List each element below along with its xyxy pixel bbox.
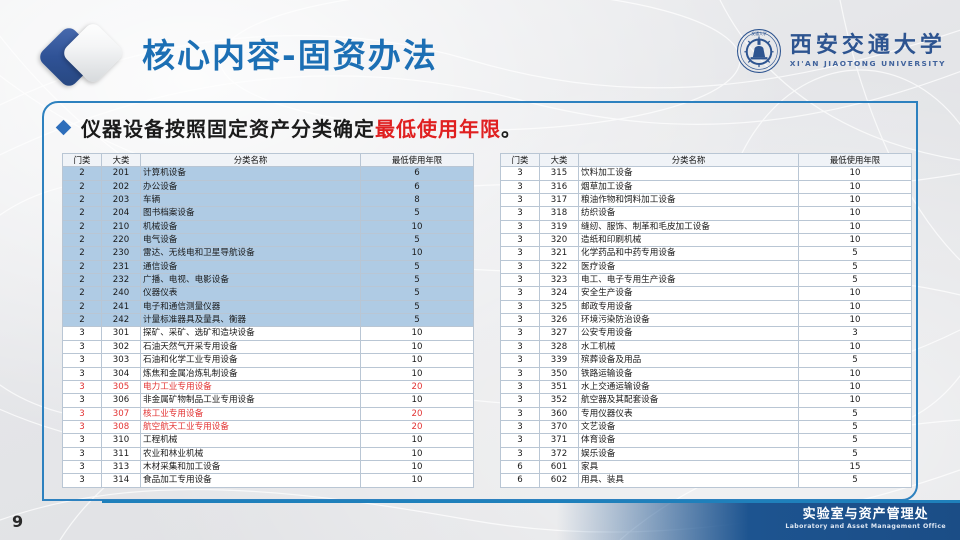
table-row: 3371体育设备5 [501, 434, 912, 447]
cell-name: 公安专用设备 [579, 327, 799, 340]
cell-name: 计算机设备 [141, 167, 361, 180]
cell-years: 5 [799, 260, 912, 273]
table-row: 3323电工、电子专用生产设备5 [501, 274, 912, 287]
university-logo: 交通大学 西安交通大学 XI'AN JIAOTONG UNIVERSITY [736, 28, 946, 74]
cell-category: 3 [501, 394, 540, 407]
cell-years: 10 [799, 207, 912, 220]
cell-category: 3 [63, 354, 102, 367]
cell-years: 10 [361, 247, 474, 260]
cell-name: 工程机械 [141, 434, 361, 447]
cell-name: 邮政专用设备 [579, 300, 799, 313]
cell-major: 351 [540, 380, 579, 393]
cell-major: 339 [540, 354, 579, 367]
cell-category: 3 [501, 167, 540, 180]
cell-major: 202 [102, 180, 141, 193]
cell-years: 20 [361, 407, 474, 420]
table-header-row: 门类 大类 分类名称 最低使用年限 [63, 154, 474, 167]
cell-years: 6 [361, 180, 474, 193]
cell-name: 车辆 [141, 194, 361, 207]
cell-name: 电子和通信测量仪器 [141, 300, 361, 313]
cell-category: 3 [63, 434, 102, 447]
cell-years: 10 [799, 314, 912, 327]
cell-category: 3 [501, 380, 540, 393]
cell-years: 10 [799, 234, 912, 247]
cell-name: 图书档案设备 [141, 207, 361, 220]
cell-category: 2 [63, 234, 102, 247]
table-row: 2231通信设备5 [63, 260, 474, 273]
cell-years: 3 [799, 327, 912, 340]
right-table-body: 3315饮料加工设备103316烟草加工设备103317粮油作物和饲料加工设备1… [501, 167, 912, 487]
cell-years: 5 [799, 474, 912, 487]
classification-table-left: 门类 大类 分类名称 最低使用年限 2201计算机设备62202办公设备6220… [62, 153, 474, 488]
table-row: 3307核工业专用设备20 [63, 407, 474, 420]
cell-years: 5 [361, 300, 474, 313]
cell-major: 324 [540, 287, 579, 300]
cell-name: 缝纫、服饰、制革和毛皮加工设备 [579, 220, 799, 233]
footer-department: 实验室与资产管理处 Laboratory and Asset Managemen… [785, 508, 946, 530]
left-table-wrapper: 门类 大类 分类名称 最低使用年限 2201计算机设备62202办公设备6220… [62, 153, 474, 488]
cell-years: 5 [361, 260, 474, 273]
table-header-row: 门类 大类 分类名称 最低使用年限 [501, 154, 912, 167]
cell-name: 炼焦和金属冶炼轧制设备 [141, 367, 361, 380]
cell-name: 木材采集和加工设备 [141, 460, 361, 473]
svg-text:交通大学: 交通大学 [751, 31, 766, 36]
bullet-text-highlight: 最低使用年限 [375, 117, 501, 141]
slide-header: 核心内容-固资办法 交通大学 [0, 0, 960, 96]
bullet-diamond-icon [56, 120, 72, 136]
table-row: 2230雷达、无线电和卫星导航设备10 [63, 247, 474, 260]
cell-name: 电力工业专用设备 [141, 380, 361, 393]
cell-category: 6 [501, 460, 540, 473]
university-name-cn: 西安交通大学 [790, 34, 946, 56]
cell-years: 5 [361, 287, 474, 300]
cell-name: 纺织设备 [579, 207, 799, 220]
cell-name: 探矿、采矿、选矿和造块设备 [141, 327, 361, 340]
cell-major: 316 [540, 180, 579, 193]
cell-name: 计量标准器具及量具、衡器 [141, 314, 361, 327]
table-row: 3328水工机械10 [501, 340, 912, 353]
cell-major: 307 [102, 407, 141, 420]
cell-category: 3 [501, 354, 540, 367]
table-row: 3350铁路运输设备10 [501, 367, 912, 380]
table-row: 3319缝纫、服饰、制革和毛皮加工设备10 [501, 220, 912, 233]
cell-category: 3 [501, 327, 540, 340]
table-row: 3302石油天然气开采专用设备10 [63, 340, 474, 353]
cell-major: 232 [102, 274, 141, 287]
table-row: 2232广播、电视、电影设备5 [63, 274, 474, 287]
cell-category: 3 [501, 407, 540, 420]
cell-years: 5 [799, 274, 912, 287]
cell-major: 602 [540, 474, 579, 487]
cell-category: 3 [501, 300, 540, 313]
cell-major: 327 [540, 327, 579, 340]
cell-name: 环境污染防治设备 [579, 314, 799, 327]
cell-name: 医疗设备 [579, 260, 799, 273]
table-row: 3308航空航天工业专用设备20 [63, 420, 474, 433]
cell-major: 322 [540, 260, 579, 273]
cell-major: 372 [540, 447, 579, 460]
cell-category: 2 [63, 274, 102, 287]
col-header-name: 分类名称 [141, 154, 361, 167]
cell-name: 烟草加工设备 [579, 180, 799, 193]
cell-name: 雷达、无线电和卫星导航设备 [141, 247, 361, 260]
cell-category: 3 [501, 194, 540, 207]
cell-major: 318 [540, 207, 579, 220]
right-table-wrapper: 门类 大类 分类名称 最低使用年限 3315饮料加工设备103316烟草加工设备… [500, 153, 912, 488]
decorative-diamond-logo [44, 26, 142, 92]
cell-category: 3 [63, 394, 102, 407]
cell-category: 3 [501, 207, 540, 220]
cell-name: 家具 [579, 460, 799, 473]
cell-major: 305 [102, 380, 141, 393]
cell-name: 用具、装具 [579, 474, 799, 487]
cell-major: 321 [540, 247, 579, 260]
cell-years: 10 [799, 167, 912, 180]
table-row: 3325邮政专用设备10 [501, 300, 912, 313]
cell-name: 航空航天工业专用设备 [141, 420, 361, 433]
cell-category: 6 [501, 474, 540, 487]
cell-name: 粮油作物和饲料加工设备 [579, 194, 799, 207]
cell-major: 301 [102, 327, 141, 340]
cell-category: 3 [501, 220, 540, 233]
cell-name: 石油和化学工业专用设备 [141, 354, 361, 367]
table-row: 3313木材采集和加工设备10 [63, 460, 474, 473]
cell-category: 3 [63, 474, 102, 487]
cell-years: 10 [799, 340, 912, 353]
cell-name: 广播、电视、电影设备 [141, 274, 361, 287]
cell-name: 铁路运输设备 [579, 367, 799, 380]
cell-category: 3 [63, 420, 102, 433]
cell-name: 化学药品和中药专用设备 [579, 247, 799, 260]
cell-category: 2 [63, 167, 102, 180]
table-row: 3311农业和林业机械10 [63, 447, 474, 460]
cell-major: 203 [102, 194, 141, 207]
table-row: 3324安全生产设备10 [501, 287, 912, 300]
table-row: 3303石油和化学工业专用设备10 [63, 354, 474, 367]
classification-tables: 门类 大类 分类名称 最低使用年限 2201计算机设备62202办公设备6220… [62, 153, 902, 488]
cell-major: 326 [540, 314, 579, 327]
table-row: 3326环境污染防治设备10 [501, 314, 912, 327]
cell-category: 2 [63, 287, 102, 300]
table-row: 3318纺织设备10 [501, 207, 912, 220]
table-row: 3339殡葬设备及用品5 [501, 354, 912, 367]
table-row: 2204图书档案设备5 [63, 207, 474, 220]
cell-major: 360 [540, 407, 579, 420]
cell-name: 农业和林业机械 [141, 447, 361, 460]
cell-name: 造纸和印刷机械 [579, 234, 799, 247]
cell-category: 3 [501, 247, 540, 260]
table-row: 3351水上交通运输设备10 [501, 380, 912, 393]
cell-years: 10 [361, 367, 474, 380]
bullet-text-suffix: 。 [501, 117, 522, 141]
cell-category: 3 [501, 314, 540, 327]
cell-major: 311 [102, 447, 141, 460]
cell-name: 安全生产设备 [579, 287, 799, 300]
table-row: 3322医疗设备5 [501, 260, 912, 273]
cell-name: 电气设备 [141, 234, 361, 247]
cell-major: 315 [540, 167, 579, 180]
table-row: 3372娱乐设备5 [501, 447, 912, 460]
table-row: 3370文艺设备5 [501, 420, 912, 433]
cell-years: 10 [799, 300, 912, 313]
cell-major: 371 [540, 434, 579, 447]
cell-years: 10 [799, 394, 912, 407]
bullet-text: 仪器设备按照固定资产分类确定最低使用年限。 [81, 113, 522, 142]
cell-category: 2 [63, 220, 102, 233]
cell-name: 电工、电子专用生产设备 [579, 274, 799, 287]
cell-years: 5 [361, 314, 474, 327]
cell-major: 220 [102, 234, 141, 247]
table-row: 3314食品加工专用设备10 [63, 474, 474, 487]
cell-years: 5 [799, 247, 912, 260]
cell-category: 3 [63, 380, 102, 393]
cell-major: 325 [540, 300, 579, 313]
cell-major: 303 [102, 354, 141, 367]
cell-years: 5 [361, 207, 474, 220]
cell-category: 3 [501, 367, 540, 380]
cell-category: 2 [63, 314, 102, 327]
col-header-category: 门类 [63, 154, 102, 167]
page-title: 核心内容-固资办法 [142, 29, 438, 77]
cell-major: 204 [102, 207, 141, 220]
cell-major: 242 [102, 314, 141, 327]
cell-major: 314 [102, 474, 141, 487]
cell-major: 328 [540, 340, 579, 353]
col-header-years: 最低使用年限 [361, 154, 474, 167]
cell-years: 10 [799, 180, 912, 193]
cell-major: 241 [102, 300, 141, 313]
cell-name: 饮料加工设备 [579, 167, 799, 180]
col-header-major: 大类 [540, 154, 579, 167]
cell-name: 体育设备 [579, 434, 799, 447]
cell-category: 3 [501, 287, 540, 300]
cell-major: 319 [540, 220, 579, 233]
cell-years: 10 [361, 327, 474, 340]
cell-name: 石油天然气开采专用设备 [141, 340, 361, 353]
university-seal-icon: 交通大学 [736, 28, 782, 74]
cell-name: 通信设备 [141, 260, 361, 273]
cell-major: 350 [540, 367, 579, 380]
cell-years: 10 [799, 220, 912, 233]
cell-years: 10 [361, 474, 474, 487]
cell-category: 3 [501, 260, 540, 273]
table-row: 3317粮油作物和饲料加工设备10 [501, 194, 912, 207]
cell-category: 3 [63, 327, 102, 340]
cell-major: 601 [540, 460, 579, 473]
cell-category: 3 [501, 447, 540, 460]
cell-major: 323 [540, 274, 579, 287]
cell-major: 320 [540, 234, 579, 247]
bullet-text-prefix: 仪器设备按照固定资产分类确定 [81, 117, 375, 141]
table-row: 3316烟草加工设备10 [501, 180, 912, 193]
cell-years: 5 [799, 447, 912, 460]
cell-years: 10 [361, 434, 474, 447]
table-row: 2201计算机设备6 [63, 167, 474, 180]
table-row: 3320造纸和印刷机械10 [501, 234, 912, 247]
cell-years: 10 [361, 220, 474, 233]
cell-major: 210 [102, 220, 141, 233]
col-header-category: 门类 [501, 154, 540, 167]
cell-major: 313 [102, 460, 141, 473]
cell-category: 2 [63, 300, 102, 313]
cell-name: 非金属矿物制品工业专用设备 [141, 394, 361, 407]
cell-name: 专用仪器仪表 [579, 407, 799, 420]
table-row: 3301探矿、采矿、选矿和造块设备10 [63, 327, 474, 340]
cell-years: 5 [361, 274, 474, 287]
cell-years: 10 [361, 340, 474, 353]
cell-years: 15 [799, 460, 912, 473]
table-row: 6601家具15 [501, 460, 912, 473]
bullet-statement: 仪器设备按照固定资产分类确定最低使用年限。 [58, 113, 522, 142]
cell-years: 10 [799, 367, 912, 380]
table-row: 3304炼焦和金属冶炼轧制设备10 [63, 367, 474, 380]
cell-category: 3 [501, 340, 540, 353]
col-header-name: 分类名称 [579, 154, 799, 167]
cell-category: 3 [501, 274, 540, 287]
cell-major: 317 [540, 194, 579, 207]
table-row: 3306非金属矿物制品工业专用设备10 [63, 394, 474, 407]
table-row: 2210机械设备10 [63, 220, 474, 233]
cell-name: 水上交通运输设备 [579, 380, 799, 393]
cell-years: 10 [361, 460, 474, 473]
university-name-en: XI'AN JIAOTONG UNIVERSITY [790, 60, 946, 67]
cell-name: 娱乐设备 [579, 447, 799, 460]
cell-category: 2 [63, 247, 102, 260]
cell-major: 240 [102, 287, 141, 300]
classification-table-right: 门类 大类 分类名称 最低使用年限 3315饮料加工设备103316烟草加工设备… [500, 153, 912, 488]
cell-name: 食品加工专用设备 [141, 474, 361, 487]
cell-years: 5 [799, 434, 912, 447]
cell-category: 3 [63, 447, 102, 460]
table-row: 2240仪器仪表5 [63, 287, 474, 300]
cell-name: 水工机械 [579, 340, 799, 353]
cell-years: 8 [361, 194, 474, 207]
content-panel: 仪器设备按照固定资产分类确定最低使用年限。 门类 大类 分类名称 最低使用年限 … [42, 101, 918, 501]
cell-major: 352 [540, 394, 579, 407]
cell-years: 20 [361, 420, 474, 433]
cell-name: 文艺设备 [579, 420, 799, 433]
department-name-en: Laboratory and Asset Management Office [785, 523, 946, 530]
cell-years: 5 [799, 420, 912, 433]
cell-name: 殡葬设备及用品 [579, 354, 799, 367]
table-row: 3310工程机械10 [63, 434, 474, 447]
table-row: 3360专用仪器仪表5 [501, 407, 912, 420]
cell-category: 3 [501, 234, 540, 247]
cell-years: 20 [361, 380, 474, 393]
cell-category: 2 [63, 207, 102, 220]
table-row: 2242计量标准器具及量具、衡器5 [63, 314, 474, 327]
cell-major: 304 [102, 367, 141, 380]
cell-major: 306 [102, 394, 141, 407]
cell-category: 3 [63, 460, 102, 473]
cell-major: 201 [102, 167, 141, 180]
col-header-major: 大类 [102, 154, 141, 167]
cell-name: 核工业专用设备 [141, 407, 361, 420]
table-row: 3305电力工业专用设备20 [63, 380, 474, 393]
table-row: 3321化学药品和中药专用设备5 [501, 247, 912, 260]
cell-years: 10 [361, 354, 474, 367]
table-row: 2202办公设备6 [63, 180, 474, 193]
cell-category: 3 [63, 407, 102, 420]
col-header-years: 最低使用年限 [799, 154, 912, 167]
table-row: 2203车辆8 [63, 194, 474, 207]
cell-category: 2 [63, 260, 102, 273]
cell-category: 3 [63, 367, 102, 380]
table-row: 2241电子和通信测量仪器5 [63, 300, 474, 313]
page-number: 9 [12, 512, 23, 531]
cell-years: 6 [361, 167, 474, 180]
cell-years: 5 [361, 234, 474, 247]
footer-divider [110, 500, 960, 503]
table-row: 3327公安专用设备3 [501, 327, 912, 340]
cell-name: 航空器及其配套设备 [579, 394, 799, 407]
cell-years: 10 [799, 287, 912, 300]
cell-major: 302 [102, 340, 141, 353]
cell-years: 5 [799, 354, 912, 367]
table-row: 3352航空器及其配套设备10 [501, 394, 912, 407]
cell-category: 2 [63, 180, 102, 193]
table-row: 2220电气设备5 [63, 234, 474, 247]
table-row: 3315饮料加工设备10 [501, 167, 912, 180]
cell-years: 10 [799, 380, 912, 393]
cell-category: 3 [501, 434, 540, 447]
department-name-cn: 实验室与资产管理处 [785, 508, 946, 523]
cell-name: 办公设备 [141, 180, 361, 193]
cell-major: 370 [540, 420, 579, 433]
cell-major: 310 [102, 434, 141, 447]
cell-major: 230 [102, 247, 141, 260]
table-row: 6602用具、装具5 [501, 474, 912, 487]
cell-major: 308 [102, 420, 141, 433]
cell-years: 10 [361, 447, 474, 460]
cell-name: 机械设备 [141, 220, 361, 233]
cell-years: 10 [361, 394, 474, 407]
cell-category: 3 [501, 420, 540, 433]
cell-years: 5 [799, 407, 912, 420]
left-table-body: 2201计算机设备62202办公设备62203车辆82204图书档案设备5221… [63, 167, 474, 487]
cell-name: 仪器仪表 [141, 287, 361, 300]
slide: 核心内容-固资办法 交通大学 [0, 0, 960, 540]
cell-category: 3 [501, 180, 540, 193]
cell-category: 2 [63, 194, 102, 207]
cell-years: 10 [799, 194, 912, 207]
cell-category: 3 [63, 340, 102, 353]
cell-major: 231 [102, 260, 141, 273]
